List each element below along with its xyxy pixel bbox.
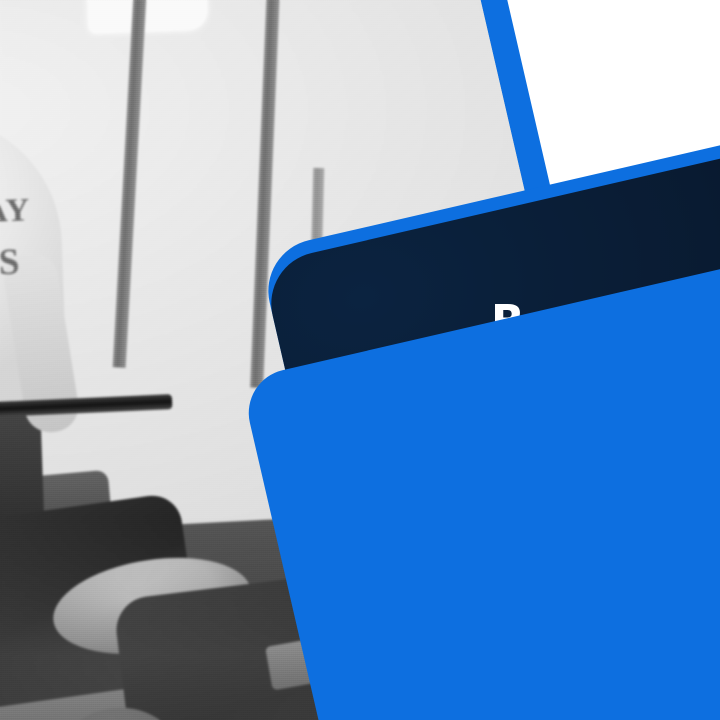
poster-canvas: GREEN BAY PACKERS (0, 0, 720, 720)
